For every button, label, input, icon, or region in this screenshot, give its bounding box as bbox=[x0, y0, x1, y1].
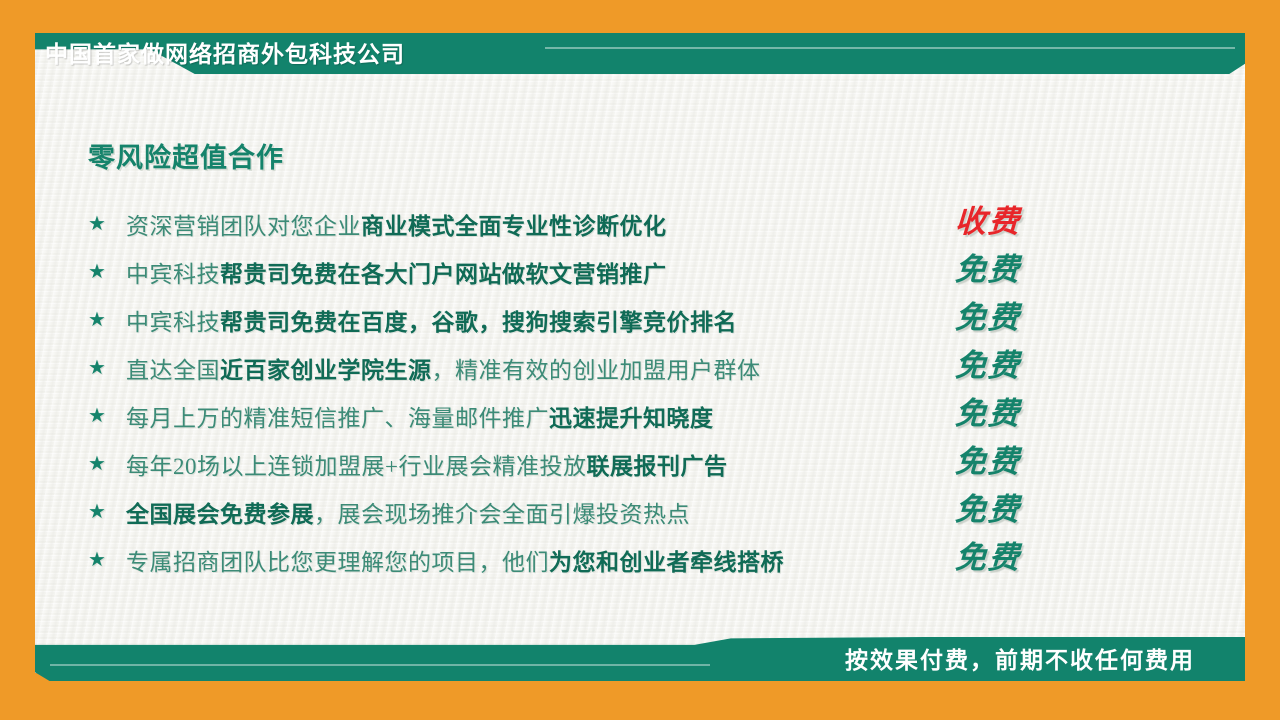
benefit-row: ★每月上万的精准短信推广、海量邮件推广迅速提升知晓度 bbox=[88, 392, 1088, 440]
price-tag-label: 免费 bbox=[954, 302, 1022, 333]
star-icon: ★ bbox=[88, 502, 126, 522]
star-icon: ★ bbox=[88, 214, 126, 234]
benefit-text-plain: 资深营销团队对您企业 bbox=[126, 214, 361, 239]
footer-hairline-divider bbox=[50, 664, 710, 666]
price-tag-row: 免费 bbox=[955, 437, 1065, 485]
benefit-text: 每月上万的精准短信推广、海量邮件推广迅速提升知晓度 bbox=[126, 399, 1088, 433]
price-tag-label: 免费 bbox=[954, 542, 1022, 573]
benefit-text-emphasis: 帮贵司免费在各大门户网站做软文营销推广 bbox=[220, 262, 667, 287]
section-title: 零风险超值合作 bbox=[88, 136, 284, 175]
benefit-text-emphasis: 全国展会免费参展 bbox=[126, 502, 314, 527]
benefit-row: ★中宾科技帮贵司免费在百度，谷歌，搜狗搜索引擎竞价排名 bbox=[88, 296, 1088, 344]
benefit-row: ★资深营销团队对您企业商业模式全面专业性诊断优化 bbox=[88, 200, 1088, 248]
benefit-row: ★全国展会免费参展，展会现场推介会全面引爆投资热点 bbox=[88, 488, 1088, 536]
benefit-text-plain: 每月上万的精准短信推广、海量邮件推广 bbox=[126, 406, 549, 431]
footer-tagline: 按效果付费，前期不收任何费用 bbox=[845, 645, 1195, 675]
benefit-text: 直达全国近百家创业学院生源，精准有效的创业加盟用户群体 bbox=[126, 351, 1088, 385]
header-hairline-divider bbox=[545, 47, 1235, 49]
benefit-text-plain: 专属招商团队比您更理解您的项目，他们 bbox=[126, 550, 549, 575]
star-icon: ★ bbox=[88, 406, 126, 426]
benefit-text-emphasis: 近百家创业学院生源 bbox=[220, 358, 432, 383]
price-tag-row: 免费 bbox=[955, 389, 1065, 437]
benefit-text: 中宾科技帮贵司免费在各大门户网站做软文营销推广 bbox=[126, 255, 1088, 289]
benefit-text-emphasis: 为您和创业者牵线搭桥 bbox=[549, 550, 784, 575]
benefit-text-emphasis: 联展报刊广告 bbox=[586, 454, 727, 479]
star-icon: ★ bbox=[88, 550, 126, 570]
price-tag-row: 免费 bbox=[955, 245, 1065, 293]
benefit-row: ★直达全国近百家创业学院生源，精准有效的创业加盟用户群体 bbox=[88, 344, 1088, 392]
star-icon: ★ bbox=[88, 454, 126, 474]
benefit-text-plain: ，展会现场推介会全面引爆投资热点 bbox=[314, 502, 690, 527]
price-tag-row: 免费 bbox=[955, 533, 1065, 581]
star-icon: ★ bbox=[88, 358, 126, 378]
benefit-text-plain: 中宾科技 bbox=[126, 262, 220, 287]
benefit-row: ★每年20场以上连锁加盟展+行业展会精准投放联展报刊广告 bbox=[88, 440, 1088, 488]
benefits-list: ★资深营销团队对您企业商业模式全面专业性诊断优化★中宾科技帮贵司免费在各大门户网… bbox=[88, 200, 1088, 584]
benefit-text: 全国展会免费参展，展会现场推介会全面引爆投资热点 bbox=[126, 495, 1088, 529]
price-tag-row: 免费 bbox=[955, 341, 1065, 389]
benefit-text: 专属招商团队比您更理解您的项目，他们为您和创业者牵线搭桥 bbox=[126, 543, 1088, 577]
benefit-row: ★中宾科技帮贵司免费在各大门户网站做软文营销推广 bbox=[88, 248, 1088, 296]
slide-root: 中国首家做网络招商外包科技公司 零风险超值合作 ★资深营销团队对您企业商业模式全… bbox=[0, 0, 1280, 720]
star-icon: ★ bbox=[88, 310, 126, 330]
benefit-text-plain: 直达全国 bbox=[126, 358, 220, 383]
price-tag-label: 收费 bbox=[954, 206, 1022, 237]
price-tag-label: 免费 bbox=[954, 350, 1022, 381]
price-tag-label: 免费 bbox=[954, 446, 1022, 477]
benefit-text-emphasis: 迅速提升知晓度 bbox=[549, 406, 714, 431]
price-tag-label: 免费 bbox=[954, 254, 1022, 285]
price-tag-row: 收费 bbox=[955, 197, 1065, 245]
star-icon: ★ bbox=[88, 262, 126, 282]
price-tag-label: 免费 bbox=[954, 494, 1022, 525]
benefit-text: 中宾科技帮贵司免费在百度，谷歌，搜狗搜索引擎竞价排名 bbox=[126, 303, 1088, 337]
benefit-text-emphasis: 帮贵司免费在百度，谷歌，搜狗搜索引擎竞价排名 bbox=[220, 310, 737, 335]
benefit-text: 每年20场以上连锁加盟展+行业展会精准投放联展报刊广告 bbox=[126, 447, 1088, 481]
price-tag-label: 免费 bbox=[954, 398, 1022, 429]
benefit-text-plain: ，精准有效的创业加盟用户群体 bbox=[432, 358, 761, 383]
benefit-text-plain: 中宾科技 bbox=[126, 310, 220, 335]
benefit-text-plain: 每年20场以上连锁加盟展+行业展会精准投放 bbox=[126, 454, 586, 479]
benefit-text: 资深营销团队对您企业商业模式全面专业性诊断优化 bbox=[126, 207, 1088, 241]
price-tag-row: 免费 bbox=[955, 485, 1065, 533]
price-tag-row: 免费 bbox=[955, 293, 1065, 341]
price-tag-column: 收费免费免费免费免费免费免费免费 bbox=[955, 197, 1065, 581]
header-title: 中国首家做网络招商外包科技公司 bbox=[45, 37, 405, 71]
benefit-text-emphasis: 商业模式全面专业性诊断优化 bbox=[361, 214, 667, 239]
benefit-row: ★专属招商团队比您更理解您的项目，他们为您和创业者牵线搭桥 bbox=[88, 536, 1088, 584]
